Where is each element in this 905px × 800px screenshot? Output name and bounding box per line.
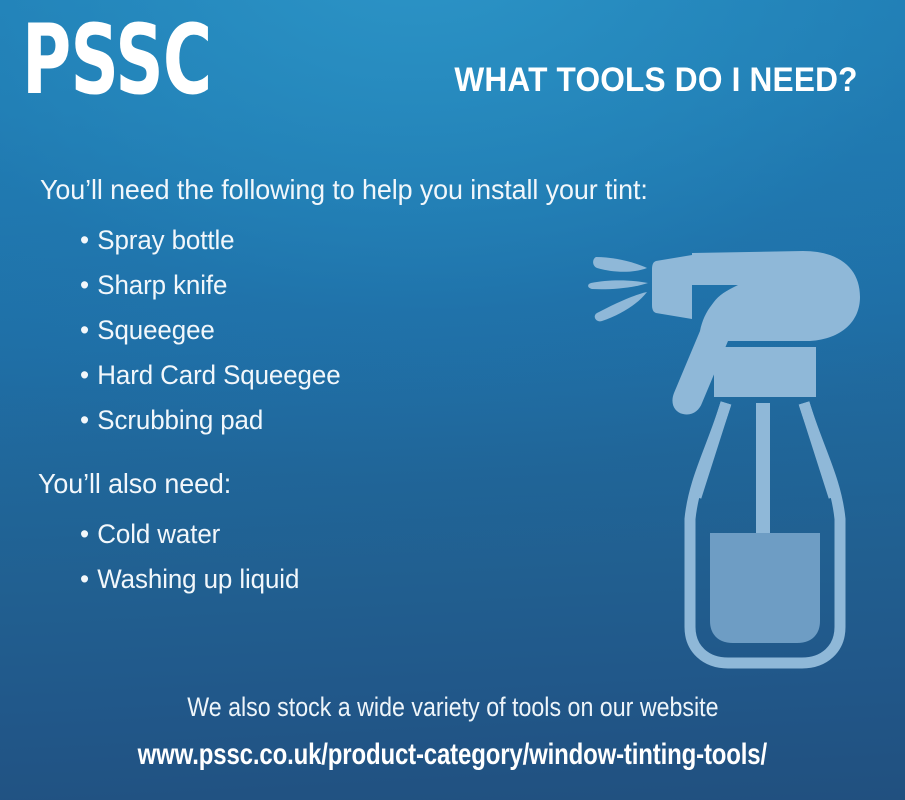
list-item-label: Scrubbing pad: [97, 405, 263, 435]
footer-url-label: www.pssc.co.uk/product-category/window-t…: [138, 736, 767, 774]
spray-bottle-illustration: [588, 235, 888, 675]
intro-primary-text: You’ll need the following to help you in…: [40, 173, 648, 207]
list-item-label: Washing up liquid: [97, 564, 299, 594]
spray-bottle-icon: [588, 235, 888, 675]
pssc-logo: PSSC: [22, 8, 212, 112]
bullet-icon: •: [80, 353, 97, 398]
bullet-icon: •: [80, 308, 97, 353]
intro-secondary-text: You’ll also need:: [38, 467, 231, 501]
list-item-label: Squeegee: [97, 315, 214, 345]
list-item-label: Spray bottle: [97, 225, 234, 255]
bullet-icon: •: [80, 398, 97, 443]
liquid-fill-icon: [710, 533, 820, 643]
list-item: •Cold water: [80, 512, 299, 557]
footer-note-label: We also stock a wide variety of tools on…: [187, 690, 718, 724]
bullet-icon: •: [80, 512, 97, 557]
extras-list: •Cold water •Washing up liquid: [80, 512, 308, 602]
tools-list: •Spray bottle •Sharp knife •Squeegee •Ha…: [80, 218, 351, 443]
bullet-icon: •: [80, 263, 97, 308]
page-title: WHAT TOOLS DO I NEED?: [441, 60, 871, 100]
nozzle-tip-icon: [652, 255, 692, 319]
list-item: •Scrubbing pad: [80, 398, 341, 443]
footer-note: We also stock a wide variety of tools on…: [0, 690, 905, 724]
bullet-icon: •: [80, 218, 97, 263]
collar-icon: [714, 347, 816, 397]
poster-canvas: PSSC WHAT TOOLS DO I NEED? You’ll need t…: [0, 0, 905, 800]
list-item-label: Cold water: [97, 519, 220, 549]
list-item: •Hard Card Squeegee: [80, 353, 341, 398]
list-item-label: Hard Card Squeegee: [97, 360, 340, 390]
list-item-label: Sharp knife: [97, 270, 227, 300]
bullet-icon: •: [80, 557, 97, 602]
list-item: •Washing up liquid: [80, 557, 299, 602]
footer-url[interactable]: www.pssc.co.uk/product-category/window-t…: [0, 736, 905, 774]
list-item: •Squeegee: [80, 308, 341, 353]
dip-tube-icon: [756, 403, 770, 533]
list-item: •Spray bottle: [80, 218, 341, 263]
list-item: •Sharp knife: [80, 263, 341, 308]
spray-droplets-icon: [588, 257, 648, 321]
